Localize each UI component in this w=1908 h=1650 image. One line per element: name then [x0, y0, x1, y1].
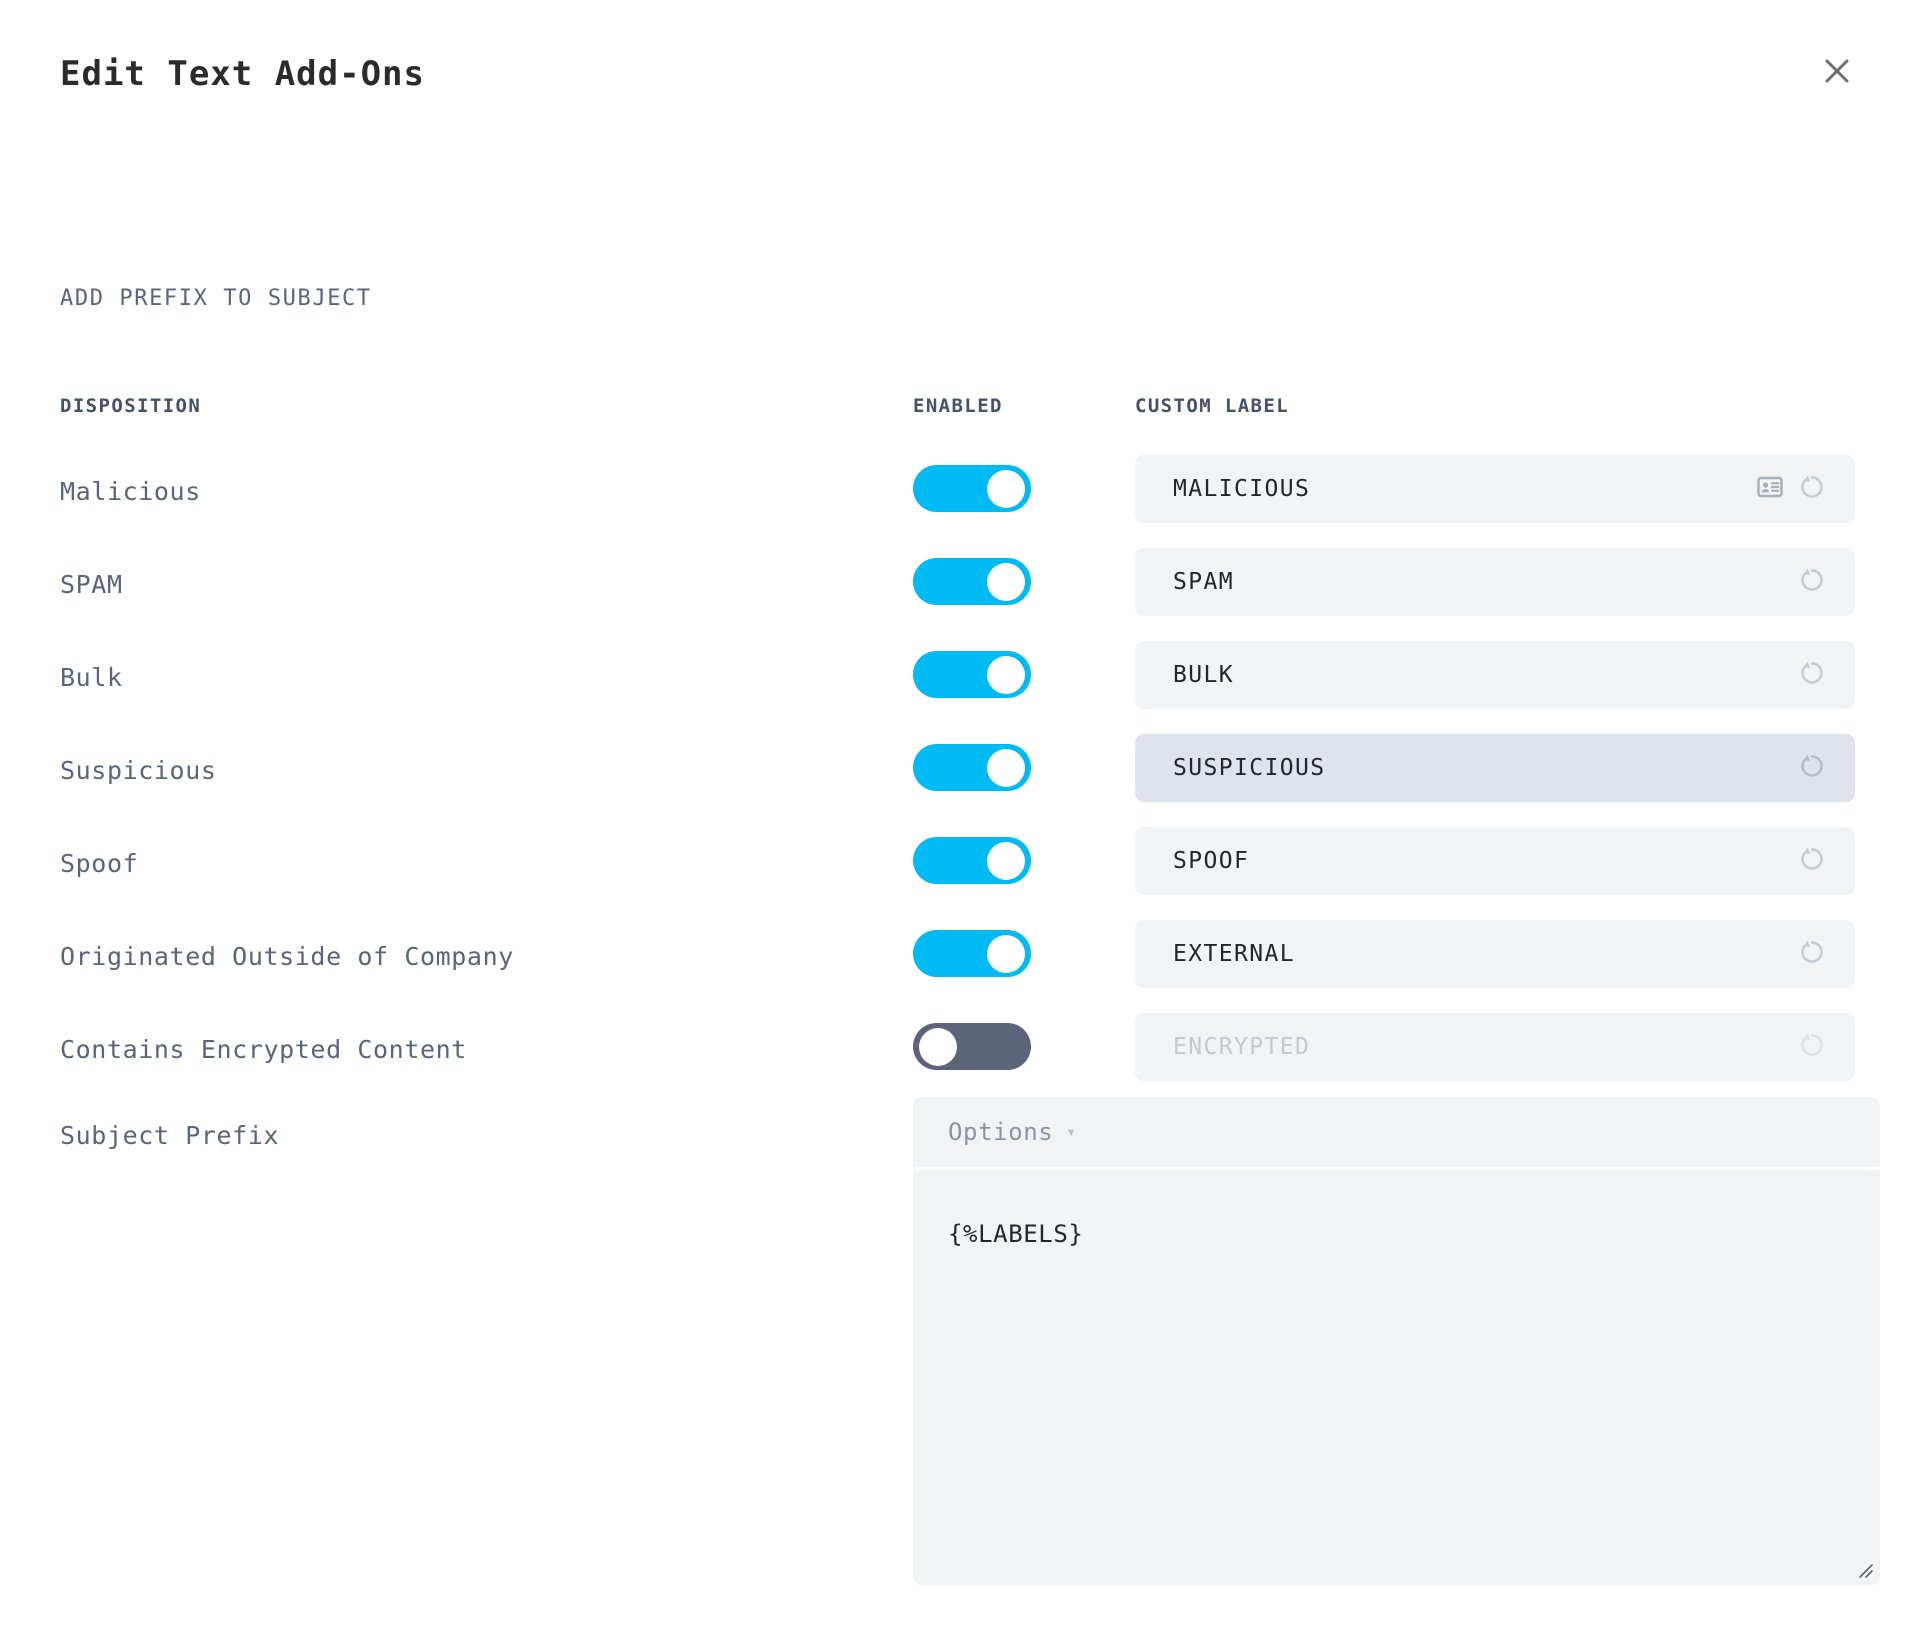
custom-label-value: EXTERNAL: [1173, 941, 1797, 967]
field-actions: [1797, 937, 1827, 971]
reset-icon[interactable]: [1797, 472, 1827, 506]
enabled-toggle[interactable]: [913, 744, 1031, 791]
custom-label-input[interactable]: SUSPICIOUS: [1135, 734, 1855, 802]
custom-label-value: MALICIOUS: [1173, 476, 1757, 502]
table-row: SpoofSPOOF: [0, 827, 1908, 920]
reset-icon[interactable]: [1797, 937, 1827, 971]
custom-label-value: BULK: [1173, 662, 1797, 688]
reset-icon[interactable]: [1797, 1030, 1827, 1064]
toggle-knob: [987, 842, 1025, 880]
custom-label-value: SUSPICIOUS: [1173, 755, 1797, 781]
toggle-knob: [987, 563, 1025, 601]
table-row: MaliciousMALICIOUS: [0, 455, 1908, 548]
subject-prefix-label: Subject Prefix: [60, 1121, 279, 1150]
enabled-toggle[interactable]: [913, 930, 1031, 977]
custom-label-input[interactable]: SPOOF: [1135, 827, 1855, 895]
field-actions: [1797, 1030, 1827, 1064]
field-actions: [1797, 844, 1827, 878]
custom-label-input[interactable]: MALICIOUS: [1135, 455, 1855, 523]
reset-icon[interactable]: [1797, 751, 1827, 785]
reset-icon[interactable]: [1797, 658, 1827, 692]
custom-label-input[interactable]: BULK: [1135, 641, 1855, 709]
table-row: Originated Outside of CompanyEXTERNAL: [0, 920, 1908, 1013]
custom-label-input[interactable]: EXTERNAL: [1135, 920, 1855, 988]
close-button[interactable]: [1808, 42, 1866, 100]
enabled-toggle[interactable]: [913, 837, 1031, 884]
enabled-toggle[interactable]: [913, 558, 1031, 605]
close-icon: [1821, 55, 1853, 87]
field-actions: [1797, 658, 1827, 692]
field-actions: [1757, 472, 1827, 506]
options-dropdown-label: Options: [948, 1118, 1053, 1146]
chevron-down-icon: ▾: [1066, 1124, 1076, 1140]
table-row: SPAMSPAM: [0, 548, 1908, 641]
enabled-toggle[interactable]: [913, 651, 1031, 698]
custom-label-value: SPAM: [1173, 569, 1797, 595]
column-header-enabled: ENABLED: [913, 395, 1003, 417]
reset-icon[interactable]: [1797, 844, 1827, 878]
toggle-knob: [987, 935, 1025, 973]
custom-label-input[interactable]: ENCRYPTED: [1135, 1013, 1855, 1081]
reset-icon[interactable]: [1797, 565, 1827, 599]
disposition-label: SPAM: [60, 570, 123, 599]
resize-handle-icon[interactable]: [1852, 1557, 1874, 1579]
table-row: SuspiciousSUSPICIOUS: [0, 734, 1908, 827]
enabled-toggle[interactable]: [913, 465, 1031, 512]
page-title: Edit Text Add-Ons: [60, 54, 425, 94]
options-dropdown[interactable]: Options ▾: [913, 1097, 1880, 1167]
field-actions: [1797, 751, 1827, 785]
disposition-label: Originated Outside of Company: [60, 942, 514, 971]
disposition-table: MaliciousMALICIOUSSPAMSPAMBulkBULKSuspic…: [0, 455, 1908, 1106]
disposition-label: Contains Encrypted Content: [60, 1035, 467, 1064]
subject-prefix-textarea[interactable]: {%LABELS}: [913, 1170, 1880, 1585]
column-header-disposition: DISPOSITION: [60, 395, 201, 417]
field-actions: [1797, 565, 1827, 599]
contact-card-icon[interactable]: [1757, 474, 1783, 504]
custom-label-value: ENCRYPTED: [1173, 1034, 1797, 1060]
column-header-custom-label: CUSTOM LABEL: [1135, 395, 1289, 417]
toggle-knob: [919, 1028, 957, 1066]
table-row: Contains Encrypted ContentENCRYPTED: [0, 1013, 1908, 1106]
table-row: BulkBULK: [0, 641, 1908, 734]
disposition-label: Suspicious: [60, 756, 217, 785]
disposition-label: Spoof: [60, 849, 138, 878]
toggle-knob: [987, 749, 1025, 787]
custom-label-input[interactable]: SPAM: [1135, 548, 1855, 616]
toggle-knob: [987, 656, 1025, 694]
enabled-toggle[interactable]: [913, 1023, 1031, 1070]
disposition-label: Bulk: [60, 663, 123, 692]
subject-prefix-value: {%LABELS}: [948, 1220, 1083, 1248]
disposition-label: Malicious: [60, 477, 201, 506]
toggle-knob: [987, 470, 1025, 508]
custom-label-value: SPOOF: [1173, 848, 1797, 874]
section-heading: ADD PREFIX TO SUBJECT: [60, 286, 372, 311]
